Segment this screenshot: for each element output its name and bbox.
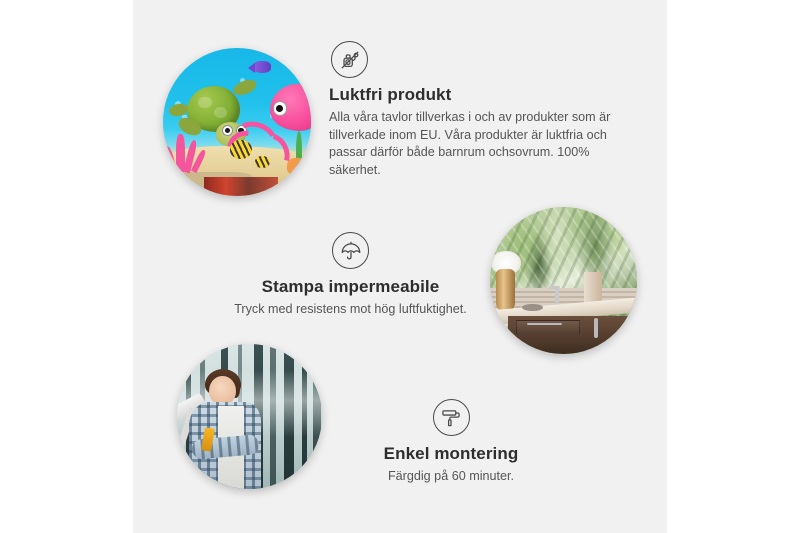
feature-description: Alla våra tavlor tillverkas i och av pro…	[329, 109, 625, 179]
feature-title: Luktfri produkt	[329, 85, 625, 105]
photo-frame-edge	[204, 177, 278, 196]
feature-description: Färgdig på 60 minuter.	[311, 468, 591, 486]
starfish-icon	[287, 158, 308, 176]
faucet-icon	[555, 286, 559, 305]
yellow-striped-fish-icon	[230, 140, 252, 159]
wood-vanity-cabinet	[508, 316, 637, 354]
purple-fish-icon	[252, 61, 271, 73]
person-head	[209, 376, 237, 405]
feature-title: Stampa impermeabile	[193, 277, 508, 297]
feature-mounting: Enkel montering Färgdig på 60 minuter.	[311, 399, 591, 486]
decorator-forest-photo	[177, 344, 322, 489]
umbrella-icon	[332, 232, 369, 269]
content-panel: Luktfri produkt Alla våra tavlor tillver…	[133, 0, 667, 533]
feature-description: Tryck med resistens mot hög luftfuktighe…	[193, 301, 508, 319]
cabinet-drawer	[516, 320, 580, 335]
product-feature-infographic: Luktfri produkt Alla våra tavlor tillver…	[0, 0, 800, 533]
underwater-cartoon-photo	[163, 48, 311, 196]
no-fragrance-icon	[331, 41, 368, 78]
paint-roller-icon	[433, 399, 470, 436]
feature-title: Enkel montering	[311, 444, 591, 464]
feature-waterproof: Stampa impermeabile Tryck med resistens …	[193, 232, 508, 319]
yellow-striped-fish-icon	[255, 156, 270, 168]
feature-odourless: Luktfri produkt Alla våra tavlor tillver…	[329, 41, 625, 179]
cabinet-handle	[594, 318, 598, 338]
bathroom-wallpaper-photo	[490, 207, 637, 354]
